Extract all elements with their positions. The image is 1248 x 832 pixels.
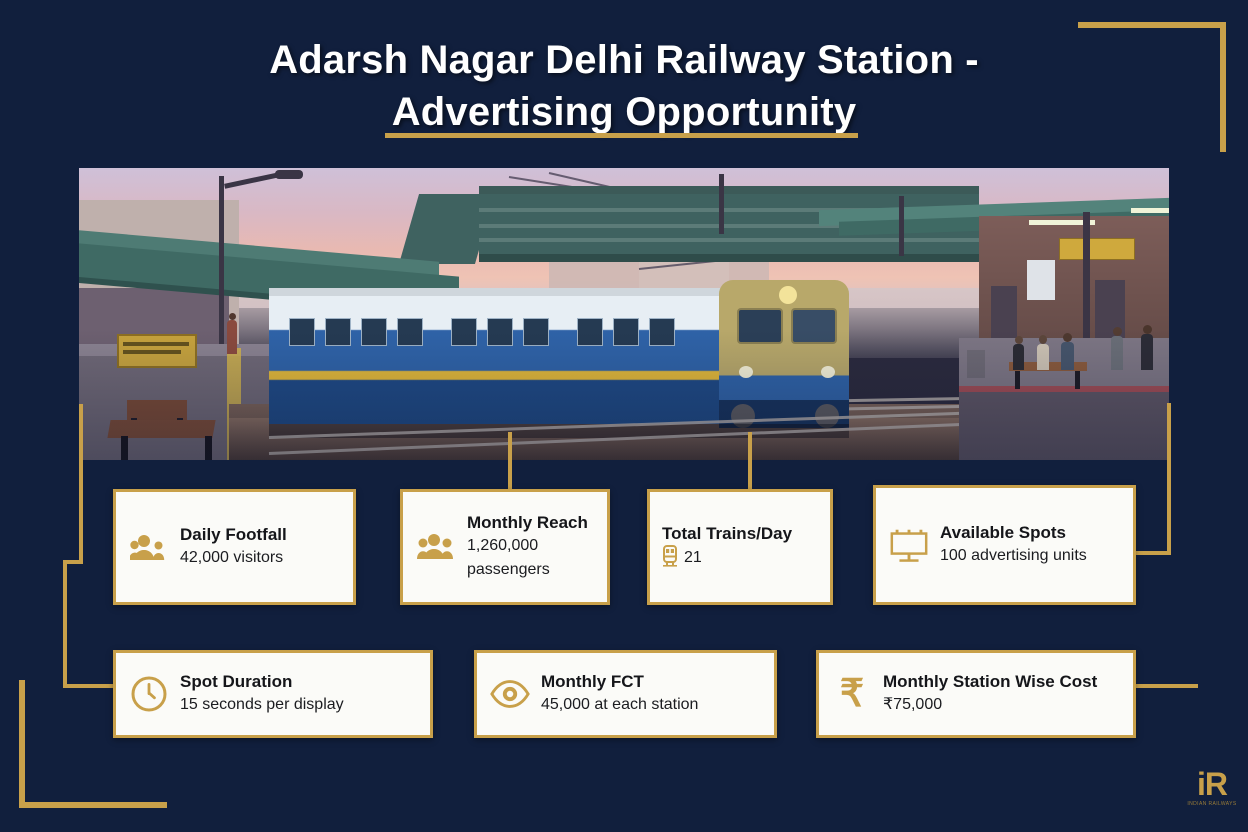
station-photo	[79, 168, 1169, 460]
stat-value: 21	[684, 546, 702, 570]
stat-card-text: Monthly Reach 1,260,000 passengers	[467, 512, 595, 582]
stat-label: Monthly Reach	[467, 512, 595, 534]
people-icon	[128, 532, 170, 562]
stat-card-text: Monthly Station Wise Cost ₹75,000	[883, 671, 1121, 717]
connector-line-right-vertical	[1167, 403, 1171, 555]
connector-line-left-vertical	[79, 404, 83, 564]
stat-label: Spot Duration	[180, 671, 418, 693]
stat-card-total-trains[interactable]: Total Trains/Day 21	[647, 489, 833, 605]
stat-label: Available Spots	[940, 522, 1121, 544]
stat-label: Monthly FCT	[541, 671, 762, 693]
stat-card-text: Total Trains/Day 21	[662, 523, 818, 572]
stat-card-spot-duration[interactable]: Spot Duration 15 seconds per display	[113, 650, 433, 738]
corner-bracket-bottom-left-horizontal	[19, 802, 167, 808]
corner-bracket-bottom-left-vertical	[19, 680, 25, 808]
stat-card-text: Daily Footfall 42,000 visitors	[180, 524, 341, 570]
hero-vignette	[79, 168, 1169, 460]
stat-card-monthly-station-wise-cost[interactable]: ₹ Monthly Station Wise Cost ₹75,000	[816, 650, 1136, 738]
stat-card-daily-footfall[interactable]: Daily Footfall 42,000 visitors	[113, 489, 356, 605]
brand-logo: iR INDIAN RAILWAYS	[1186, 768, 1238, 808]
eye-icon	[489, 679, 531, 709]
billboard-icon	[888, 526, 930, 564]
stat-card-available-spots[interactable]: Available Spots 100 advertising units	[873, 485, 1136, 605]
connector-line-to-monthly-reach	[508, 432, 512, 490]
stat-card-text: Monthly FCT 45,000 at each station	[541, 671, 762, 717]
connector-line-to-total-trains	[748, 432, 752, 490]
connector-line-to-available-spots	[1136, 551, 1171, 555]
stat-card-text: Available Spots 100 advertising units	[940, 522, 1121, 568]
stat-card-monthly-reach[interactable]: Monthly Reach 1,260,000 passengers	[400, 489, 610, 605]
train-icon	[662, 545, 678, 572]
stat-value: 1,260,000 passengers	[467, 534, 595, 582]
stat-value: 15 seconds per display	[180, 693, 418, 717]
stat-card-text: Spot Duration 15 seconds per display	[180, 671, 418, 717]
page-title: Adarsh Nagar Delhi Railway Station - Adv…	[180, 34, 1068, 138]
connector-line-to-spot-duration	[63, 684, 115, 688]
stat-label: Total Trains/Day	[662, 523, 818, 545]
stat-card-monthly-fct[interactable]: Monthly FCT 45,000 at each station	[474, 650, 777, 738]
connector-line-left-vertical-lower	[63, 560, 67, 688]
brand-subtitle: INDIAN RAILWAYS	[1186, 800, 1238, 808]
people-icon	[415, 532, 457, 562]
clock-icon	[128, 674, 170, 714]
rupee-icon: ₹	[831, 675, 873, 713]
stat-label: Daily Footfall	[180, 524, 341, 546]
stat-value: 42,000 visitors	[180, 546, 341, 570]
stat-value: 45,000 at each station	[541, 693, 762, 717]
stat-value: ₹75,000	[883, 693, 1121, 717]
stat-value: 100 advertising units	[940, 544, 1121, 568]
connector-line-to-monthly-cost	[1136, 684, 1198, 688]
corner-bracket-top-right-horizontal	[1078, 22, 1226, 28]
title-block: Adarsh Nagar Delhi Railway Station - Adv…	[180, 34, 1068, 138]
stat-value-row: 21	[662, 545, 818, 572]
stat-label: Monthly Station Wise Cost	[883, 671, 1121, 693]
title-underline	[385, 133, 858, 138]
brand-mark: iR	[1186, 768, 1238, 800]
corner-bracket-top-right-vertical	[1220, 22, 1226, 152]
